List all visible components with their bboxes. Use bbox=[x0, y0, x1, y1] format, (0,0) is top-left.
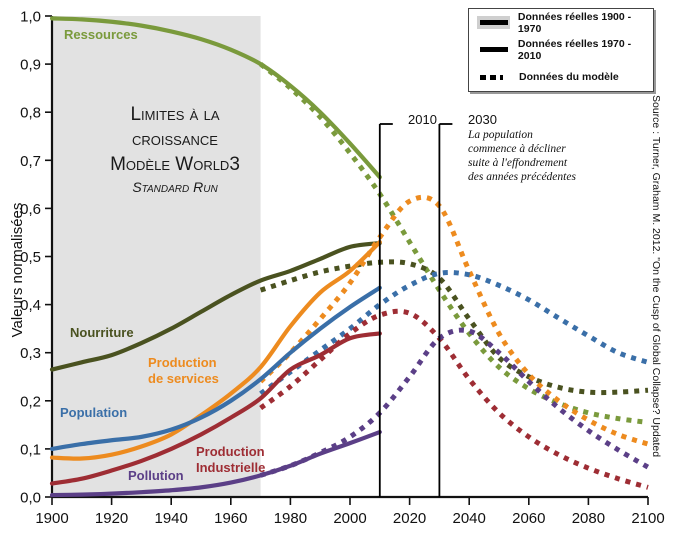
svg-text:1900: 1900 bbox=[35, 510, 68, 527]
series-label-ressources: Ressources bbox=[64, 27, 138, 42]
series-label-services: Production de services bbox=[148, 355, 219, 387]
x-axis-ticks: 1900192019401960198020002020204020602080… bbox=[35, 497, 664, 527]
series-label-industrielle-line-2: Industrielle bbox=[196, 460, 265, 476]
svg-text:2100: 2100 bbox=[631, 510, 664, 527]
legend-label-2: Données du modèle bbox=[519, 71, 619, 83]
figure-title-line-2: croissance bbox=[80, 127, 270, 152]
figure-title-line-1: Limites à la bbox=[80, 102, 270, 127]
svg-text:0,9: 0,9 bbox=[20, 57, 41, 74]
legend-label-1: Données réelles 1970 - 2010 bbox=[518, 38, 653, 62]
series-label-industrielle-line-1: Production bbox=[196, 444, 265, 460]
legend-swatch-solid-icon bbox=[477, 43, 510, 56]
legend-swatch-shaded-solid-icon bbox=[477, 16, 510, 29]
legend-swatch-dotted-icon bbox=[477, 70, 511, 83]
annotation-2010-year: 2010 bbox=[408, 112, 437, 127]
svg-text:1980: 1980 bbox=[274, 510, 307, 527]
annotation-2030-year: 2030 bbox=[468, 112, 588, 127]
figure-title-block: Limites à la croissance Modèle World3 St… bbox=[80, 102, 270, 197]
historical-shaded-region bbox=[52, 16, 261, 497]
svg-text:2040: 2040 bbox=[453, 510, 486, 527]
svg-text:2020: 2020 bbox=[393, 510, 426, 527]
svg-text:1960: 1960 bbox=[214, 510, 247, 527]
figure-subtitle: Standard Run bbox=[80, 177, 270, 197]
series-label-population: Population bbox=[60, 405, 127, 420]
source-credit: Source : Turner, Graham M. 2012. "On the… bbox=[650, 95, 662, 457]
svg-text:2060: 2060 bbox=[512, 510, 545, 527]
legend-item-1: Données réelles 1970 - 2010 bbox=[469, 36, 653, 63]
y-axis-title: Valeurs normalisées bbox=[9, 203, 26, 338]
legend-label-0: Données réelles 1900 - 1970 bbox=[518, 11, 653, 35]
annotation-2030-line-1: La population bbox=[468, 128, 588, 142]
legend-item-0: Données réelles 1900 - 1970 bbox=[469, 9, 653, 36]
legend-item-2: Données du modèle bbox=[469, 63, 653, 90]
series-label-pollution: Pollution bbox=[128, 468, 184, 483]
svg-text:0,0: 0,0 bbox=[20, 490, 41, 507]
svg-text:1,0: 1,0 bbox=[20, 9, 41, 26]
svg-text:0,1: 0,1 bbox=[20, 441, 41, 458]
svg-text:2000: 2000 bbox=[333, 510, 366, 527]
svg-text:0,3: 0,3 bbox=[20, 345, 41, 362]
svg-text:2080: 2080 bbox=[572, 510, 605, 527]
figure-title-line-3: Modèle World3 bbox=[80, 152, 270, 177]
legend-box: Données réelles 1900 - 1970 Données réel… bbox=[468, 8, 654, 92]
svg-text:0,8: 0,8 bbox=[20, 105, 41, 122]
annotation-2030: 2030 La population commence à décliner s… bbox=[468, 112, 588, 184]
svg-text:0,7: 0,7 bbox=[20, 153, 41, 170]
svg-text:1920: 1920 bbox=[95, 510, 128, 527]
series-label-industrielle: Production Industrielle bbox=[196, 444, 265, 476]
chart-figure: 0,00,10,20,30,40,50,60,70,80,91,0 190019… bbox=[0, 0, 681, 540]
annotation-2030-line-2: commence à décliner bbox=[468, 142, 588, 156]
svg-text:0,2: 0,2 bbox=[20, 393, 41, 410]
event-marker-lines bbox=[380, 124, 453, 497]
series-label-nourriture: Nourriture bbox=[70, 325, 134, 340]
annotation-2030-line-4: des années précédentes bbox=[468, 170, 588, 184]
annotation-2030-line-3: suite à l'effondrement bbox=[468, 156, 588, 170]
series-label-services-line-2: de services bbox=[148, 371, 219, 387]
svg-text:1940: 1940 bbox=[155, 510, 188, 527]
series-label-services-line-1: Production bbox=[148, 355, 219, 371]
annotation-2010: 2010 bbox=[408, 112, 437, 127]
